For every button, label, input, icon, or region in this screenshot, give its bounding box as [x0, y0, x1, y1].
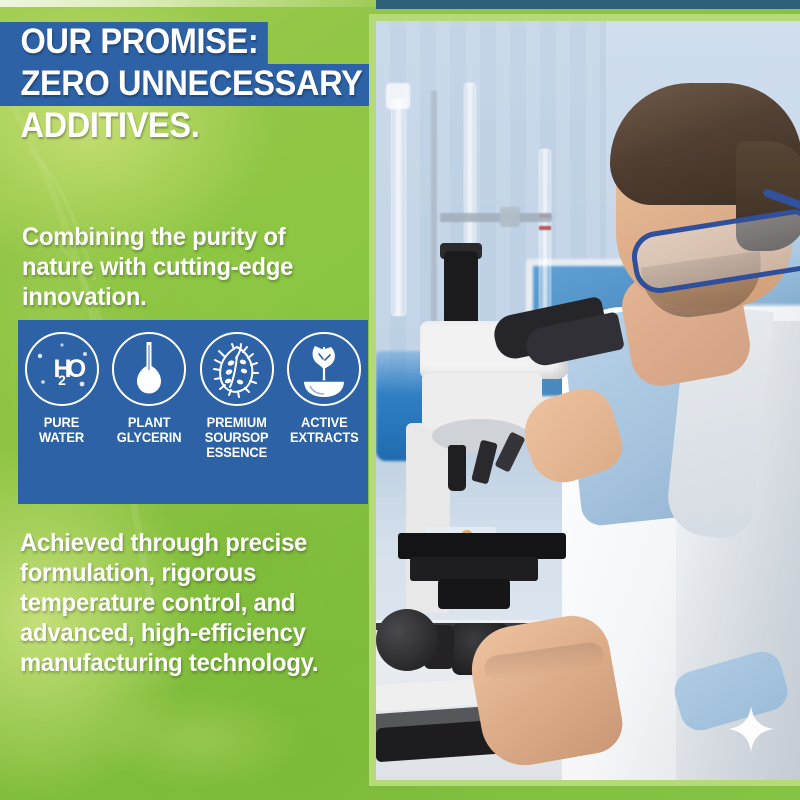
- page-title: OUR PROMISE: ZERO UNNECESSARY ADDITIVES.: [0, 22, 380, 148]
- svg-text:2: 2: [58, 372, 66, 388]
- soursop-fruit-icon: [200, 332, 274, 406]
- headline-line-1: OUR PROMISE:: [0, 22, 268, 64]
- bowl-sprout-extract-icon: [287, 332, 361, 406]
- microscope-condenser: [438, 579, 510, 609]
- feature-item-pure-water: H O 2 PURE WATER: [20, 332, 104, 445]
- bowl-sprout-icon-glyph: [291, 336, 357, 402]
- microscope-coarse-focus-knob: [376, 609, 438, 671]
- feature-icon-panel: H O 2 PURE WATER PLANT GLYCERIN: [18, 320, 368, 504]
- top-strip-teal: [376, 0, 800, 9]
- feature-label-pure-water: PURE WATER: [39, 415, 84, 445]
- feature-label-active-extracts: ACTIVE EXTRACTS: [290, 415, 359, 445]
- microscope-objective-1: [448, 445, 466, 491]
- feature-label-premium-soursop: PREMIUM SOURSOP ESSENCE: [205, 415, 269, 460]
- feature-label-line2: GLYCERIN: [117, 430, 182, 445]
- sub-paragraph: Combining the purity of nature with cutt…: [22, 222, 345, 312]
- feature-item-premium-soursop: PREMIUM SOURSOP ESSENCE: [195, 332, 279, 460]
- sparkle-icon: [728, 706, 774, 752]
- glass-burette-a: [391, 99, 406, 316]
- feature-label-line2: WATER: [39, 430, 84, 445]
- feature-label-line1: PURE: [39, 415, 84, 430]
- glass-stopper: [386, 83, 410, 109]
- feature-label-line2: SOURSOP: [205, 430, 269, 445]
- scientist-hand-lower: [465, 610, 627, 772]
- burette-clamp-knob: [500, 207, 520, 227]
- headline-line-3: ADDITIVES.: [0, 106, 209, 148]
- feature-item-plant-glycerin: PLANT GLYCERIN: [107, 332, 191, 445]
- promise-poster: OUR PROMISE: ZERO UNNECESSARY ADDITIVES.…: [0, 0, 800, 800]
- feature-label-line1: PLANT: [117, 415, 182, 430]
- h2o-molecule-icon: H O 2: [25, 332, 99, 406]
- h2o-icon-glyph: H O 2: [27, 334, 97, 404]
- burette-clamp: [440, 213, 552, 222]
- pipette-icon-glyph: [116, 336, 182, 402]
- microscope-stage-lower: [410, 557, 538, 581]
- burette-marking-2: [539, 226, 551, 230]
- top-strip-left: [0, 0, 376, 7]
- feature-label-line3: ESSENCE: [205, 445, 269, 460]
- lower-paragraph: Achieved through precise formulation, ri…: [20, 528, 353, 678]
- feature-item-active-extracts: ACTIVE EXTRACTS: [282, 332, 366, 445]
- svg-text:O: O: [67, 355, 86, 383]
- feature-label-line1: PREMIUM: [205, 415, 269, 430]
- soursop-icon-glyph: [204, 336, 270, 402]
- microscope-stage: [398, 533, 566, 559]
- feature-label-line1: ACTIVE: [290, 415, 359, 430]
- dropper-pipette-icon: [112, 332, 186, 406]
- feature-label-line2: EXTRACTS: [290, 430, 359, 445]
- feature-label-plant-glycerin: PLANT GLYCERIN: [117, 415, 182, 445]
- laboratory-photo: [376, 21, 800, 780]
- headline-line-2: ZERO UNNECESSARY: [0, 64, 372, 106]
